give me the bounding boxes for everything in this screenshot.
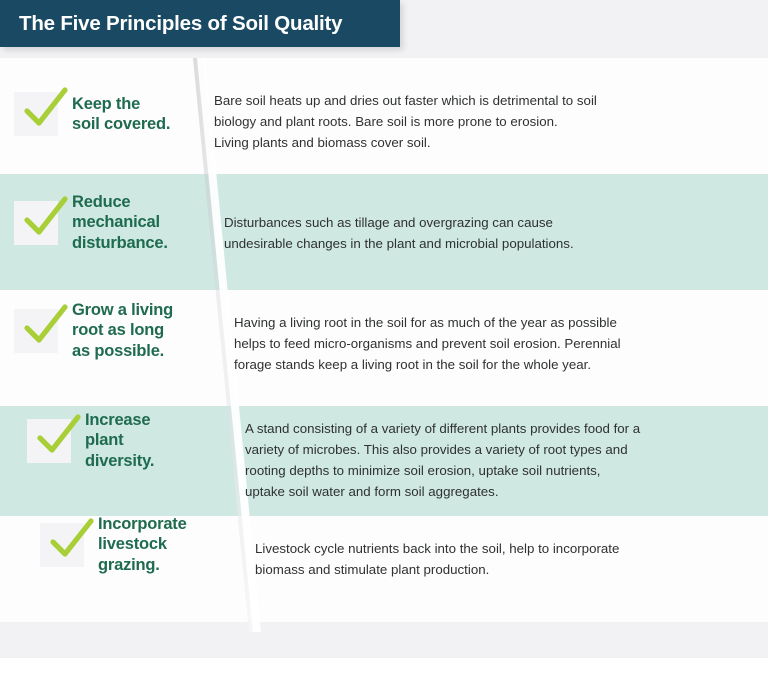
description-line: Living plants and biomass cover soil. (214, 132, 597, 153)
description-line: biomass and stimulate plant production. (255, 559, 619, 580)
checkbox-4[interactable] (27, 419, 71, 463)
description-line: biology and plant roots. Bare soil is mo… (214, 111, 597, 132)
principle-label-2: Reducemechanicaldisturbance. (72, 192, 168, 253)
description-line: A stand consisting of a variety of diffe… (245, 418, 640, 439)
description-line: Bare soil heats up and dries out faster … (214, 90, 597, 111)
principle-label-4: Increaseplantdiversity. (85, 410, 154, 471)
description-line: helps to feed micro-organisms and preven… (234, 333, 621, 354)
principle-label-line: Grow a living (72, 300, 173, 320)
principle-label-line: as possible. (72, 341, 173, 361)
backdrop-band-bottom (0, 622, 768, 658)
principle-description-2: Disturbances such as tillage and overgra… (224, 212, 574, 254)
description-line: Having a living root in the soil for as … (234, 312, 621, 333)
checkbox-5[interactable] (40, 523, 84, 567)
principle-description-5: Livestock cycle nutrients back into the … (255, 538, 619, 580)
description-line: variety of microbes. This also provides … (245, 439, 640, 460)
check-icon (46, 516, 96, 566)
principle-item-4[interactable]: Increaseplantdiversity. (27, 410, 154, 471)
description-line: undesirable changes in the plant and mic… (224, 233, 574, 254)
principle-label-line: Keep the (72, 94, 170, 114)
principle-label-line: Reduce (72, 192, 168, 212)
checkbox-2[interactable] (14, 201, 58, 245)
description-line: rooting depths to minimize soil erosion,… (245, 460, 640, 481)
principle-item-2[interactable]: Reducemechanicaldisturbance. (14, 192, 168, 253)
check-icon (20, 194, 70, 244)
principle-description-3: Having a living root in the soil for as … (234, 312, 621, 375)
principle-label-line: livestock (98, 534, 187, 554)
principle-label-line: plant (85, 430, 154, 450)
principle-label-line: disturbance. (72, 233, 168, 253)
principle-label-line: soil covered. (72, 114, 170, 134)
description-line: forage stands keep a living root in the … (234, 354, 621, 375)
description-line: Livestock cycle nutrients back into the … (255, 538, 619, 559)
principle-label-3: Grow a livingroot as longas possible. (72, 300, 173, 361)
principle-label-line: diversity. (85, 451, 154, 471)
checkbox-3[interactable] (14, 309, 58, 353)
principle-description-4: A stand consisting of a variety of diffe… (245, 418, 640, 502)
check-icon (33, 412, 83, 462)
principle-description-1: Bare soil heats up and dries out faster … (214, 90, 597, 153)
description-line: uptake soil water and form soil aggregat… (245, 481, 640, 502)
description-line: Disturbances such as tillage and overgra… (224, 212, 574, 233)
check-icon (20, 302, 70, 352)
checkbox-1[interactable] (14, 92, 58, 136)
principle-item-1[interactable]: Keep thesoil covered. (14, 92, 170, 136)
principle-label-line: root as long (72, 320, 173, 340)
soil-quality-infographic: The Five Principles of Soil Quality Keep… (0, 0, 768, 685)
header-title-bar: The Five Principles of Soil Quality (0, 0, 400, 47)
principle-item-5[interactable]: Incorporatelivestockgrazing. (40, 514, 187, 575)
principle-label-line: Incorporate (98, 514, 187, 534)
principle-label-1: Keep thesoil covered. (72, 94, 170, 135)
check-icon (20, 85, 70, 135)
backdrop-band-foot (0, 658, 768, 685)
principle-label-line: mechanical (72, 212, 168, 232)
principle-item-3[interactable]: Grow a livingroot as longas possible. (14, 300, 173, 361)
principle-label-5: Incorporatelivestockgrazing. (98, 514, 187, 575)
principle-label-line: grazing. (98, 555, 187, 575)
principle-label-line: Increase (85, 410, 154, 430)
page-title: The Five Principles of Soil Quality (19, 12, 342, 36)
